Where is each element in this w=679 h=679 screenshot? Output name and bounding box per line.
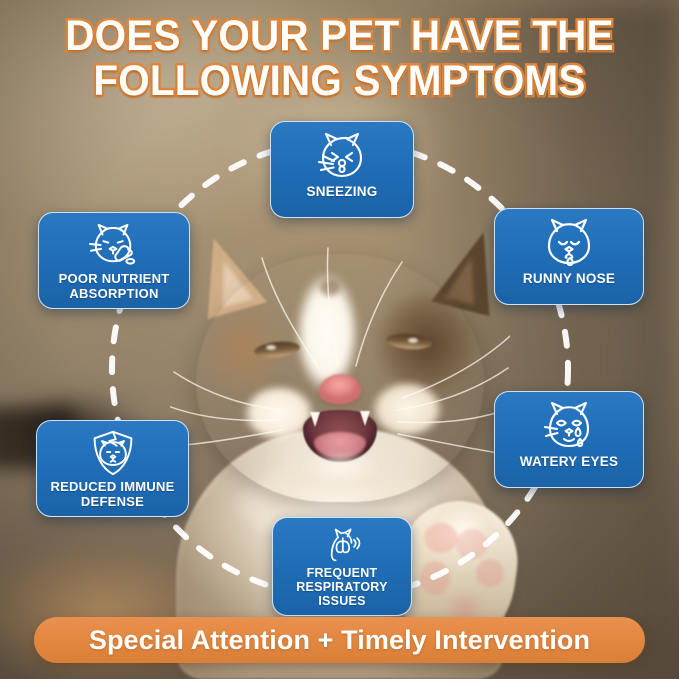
cat-chin — [292, 452, 388, 498]
symptom-badge-watery-eyes[interactable]: WATERY EYES — [494, 391, 644, 488]
cat-left-eye-glint — [266, 345, 276, 350]
symptom-badge-label: SNEEZING — [306, 185, 377, 200]
cracked-shield-cat-icon — [87, 430, 139, 476]
cta-banner[interactable]: Special Attention + Timely Intervention — [34, 617, 645, 663]
symptom-badge-runny-nose[interactable]: RUNNY NOSE — [494, 208, 644, 305]
symptom-badge-label: POOR NUTRIENT ABSORPTION — [45, 272, 183, 301]
page-title: DOES YOUR PET HAVE THE FOLLOWING SYMPTOM… — [20, 14, 658, 104]
cat-muzzle-right — [364, 378, 450, 446]
cta-banner-text: Special Attention + Timely Intervention — [89, 625, 590, 656]
symptom-badge-label: REDUCED IMMUNE DEFENSE — [43, 480, 182, 509]
cat-lungs-icon — [316, 527, 368, 562]
symptom-badge-label: WATERY EYES — [520, 455, 619, 470]
cat-forehead-spot — [320, 280, 340, 296]
symptom-badge-immune[interactable]: REDUCED IMMUNE DEFENSE — [36, 420, 189, 517]
cat-paw-toe — [424, 523, 458, 553]
cat-right-eye-glint — [408, 338, 418, 343]
symptom-badge-label: RUNNY NOSE — [523, 272, 615, 287]
cat-paw-toe — [476, 559, 504, 587]
symptom-badge-nutrient[interactable]: POOR NUTRIENT ABSORPTION — [38, 212, 190, 309]
cat-runny-nose-icon — [540, 218, 598, 268]
promo-graphic: DOES YOUR PET HAVE THE FOLLOWING SYMPTOM… — [0, 0, 679, 679]
cat-paw-toe — [456, 529, 488, 559]
cat-fang-left — [310, 412, 320, 427]
symptom-badge-label: FREQUENT RESPIRATORY ISSUES — [279, 566, 405, 608]
symptom-badge-sneezing[interactable]: SNEEZING — [270, 121, 414, 218]
symptom-badge-respiratory[interactable]: FREQUENT RESPIRATORY ISSUES — [272, 517, 412, 616]
cat-bone-icon — [86, 222, 142, 268]
page-title-line-2: FOLLOWING SYMPTOMS — [20, 59, 658, 104]
page-title-line-1: DOES YOUR PET HAVE THE — [20, 14, 658, 59]
cat-sneezing-icon — [313, 131, 371, 181]
cat-fang-right — [360, 411, 370, 426]
cat-watery-eyes-icon — [540, 401, 598, 451]
